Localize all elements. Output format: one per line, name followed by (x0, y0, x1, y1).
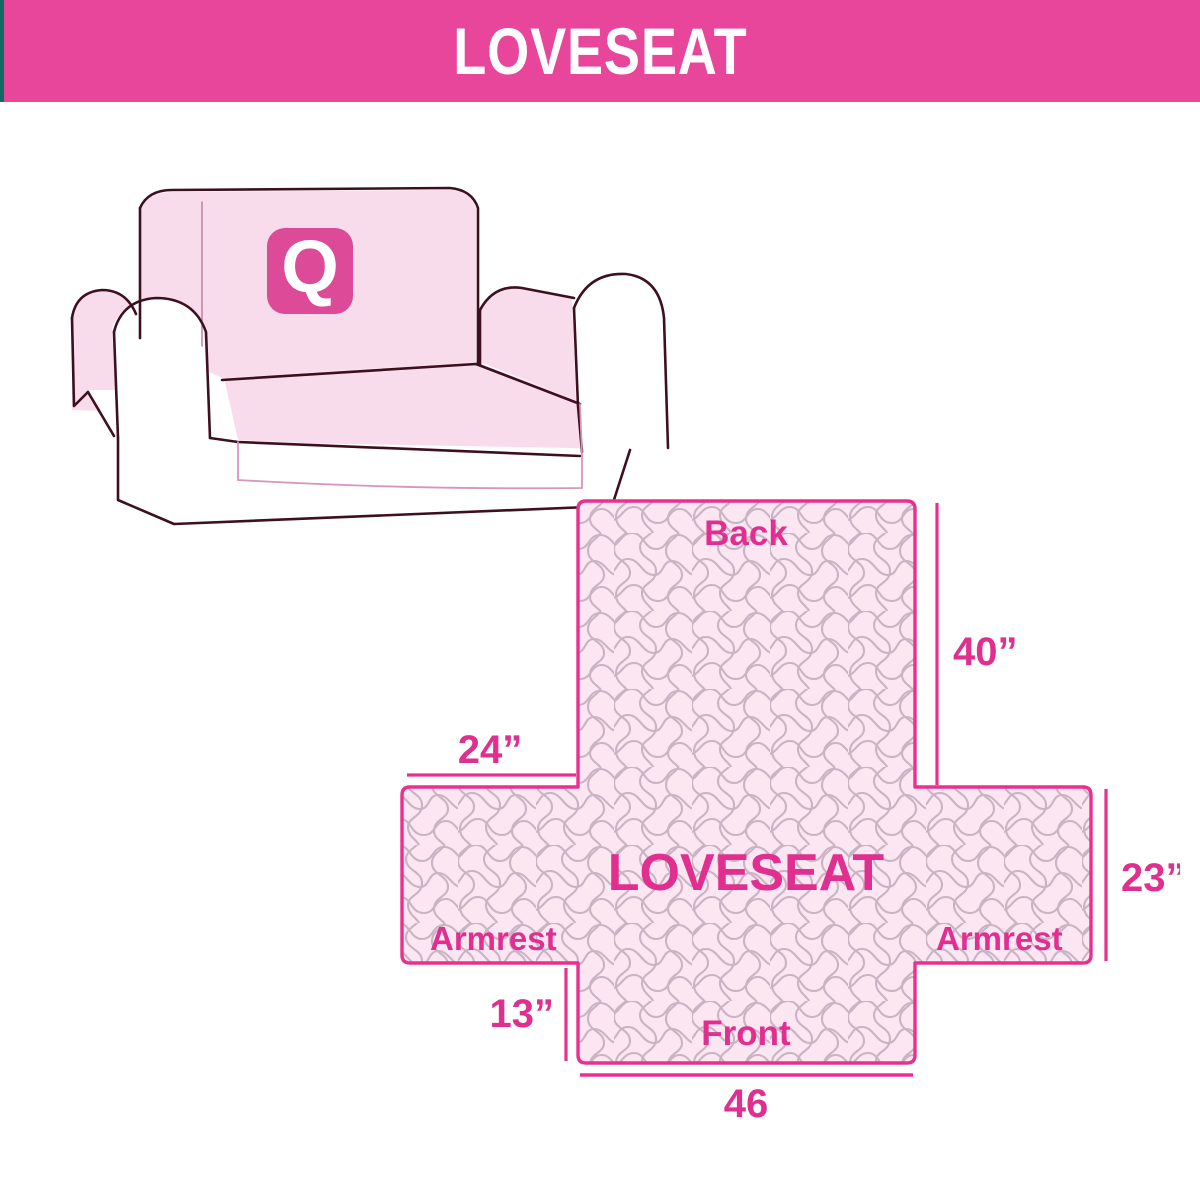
header-banner: LOVESEAT (0, 0, 1200, 102)
brand-logo: Q (267, 225, 353, 314)
label-armrest-right: Armrest (936, 920, 1063, 957)
dimension-value-13: 13” (490, 992, 555, 1036)
label-front: Front (701, 1014, 791, 1053)
cover-cross-shape (402, 501, 1091, 1063)
dimension-value-24: 24” (458, 728, 523, 772)
sofa-right-arm-white (572, 274, 666, 450)
flat-layout-diagram: Back LOVESEAT Armrest Armrest Front 40” … (380, 455, 1180, 1135)
label-center-loveseat: LOVESEAT (608, 844, 885, 902)
page-title: LOVESEAT (453, 18, 747, 84)
dimension-value-46: 46 (724, 1082, 769, 1126)
logo-letter: Q (281, 225, 339, 308)
label-armrest-left: Armrest (430, 920, 557, 957)
left-edge-strip (0, 0, 4, 102)
dimension-value-40: 40” (953, 630, 1018, 674)
label-back: Back (704, 514, 788, 553)
dimension-value-23: 23” (1121, 856, 1180, 900)
